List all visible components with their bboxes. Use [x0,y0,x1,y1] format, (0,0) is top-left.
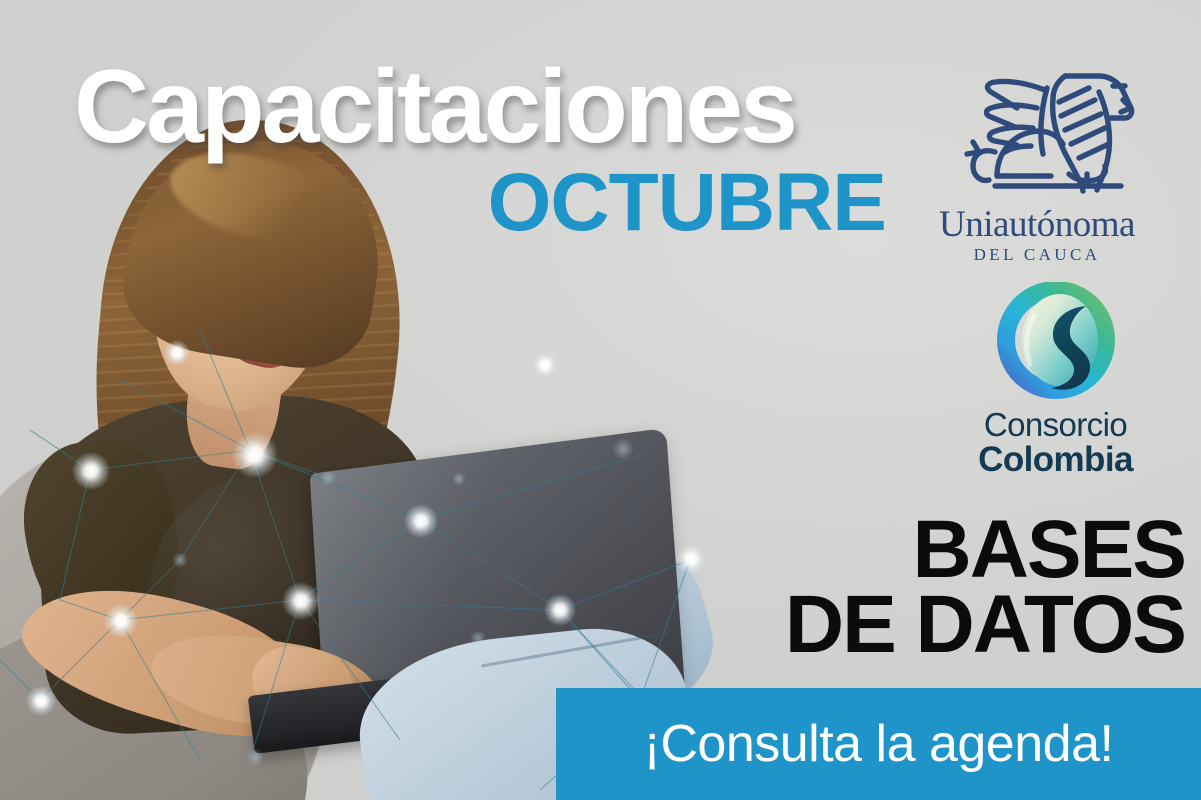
cta-text: ¡Consulta la agenda! [644,718,1114,770]
banner-title: Capacitaciones [74,58,904,158]
sponsor-logo: Consorcio Colombia [948,282,1163,477]
circular-swirl-icon [948,282,1163,404]
sponsor-name-line1: Consorcio [948,408,1163,442]
cta-banner[interactable]: ¡Consulta la agenda! [556,688,1201,800]
university-name: Uniautónoma [912,206,1162,243]
topic-block: BASES DE DATOS [785,512,1185,663]
topic-line-1: BASES [785,512,1185,587]
sponsor-name-line2: Colombia [948,442,1163,478]
headline-block: Capacitaciones OCTUBRE [74,58,904,244]
promotional-banner: Capacitaciones OCTUBRE [0,0,1201,800]
banner-subtitle: OCTUBRE [74,162,904,244]
university-subtitle: DEL CAUCA [912,246,1162,263]
griffin-icon [912,56,1162,204]
topic-line-2: DE DATOS [785,587,1185,662]
university-logo: Uniautónoma DEL CAUCA [912,56,1162,263]
